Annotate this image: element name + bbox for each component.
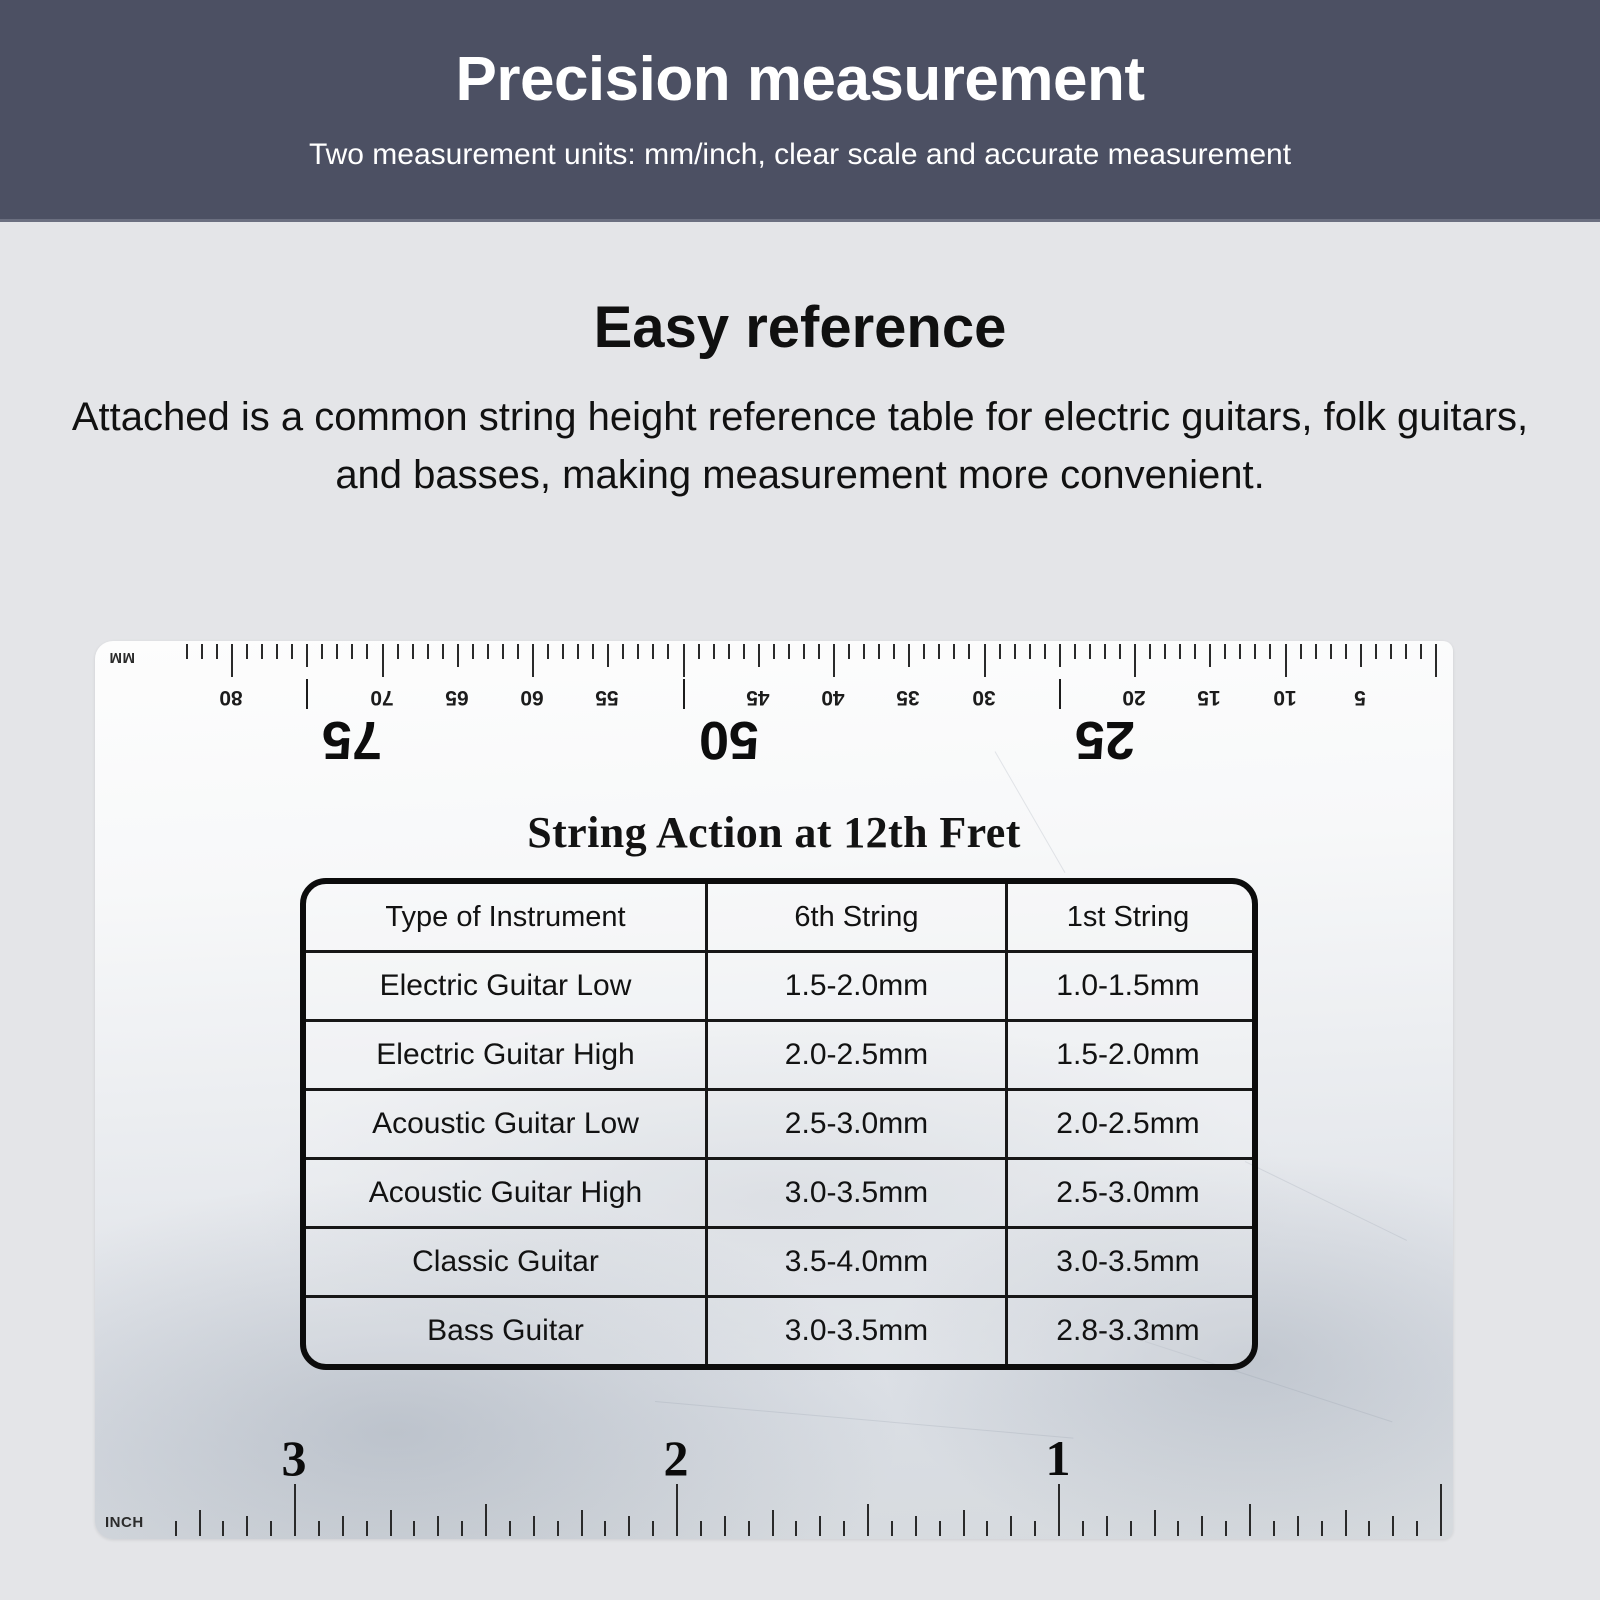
inch-tick [819, 1516, 821, 1536]
inch-tick [1440, 1484, 1442, 1536]
mm-tick [427, 644, 429, 659]
mm-tick [216, 644, 218, 659]
mm-tick [382, 644, 384, 677]
inch-tick [867, 1504, 869, 1536]
cell-first-string: 2.0-2.5mm [1008, 1091, 1248, 1157]
inch-tick [509, 1521, 511, 1536]
column-header-instrument: Type of Instrument [306, 884, 708, 950]
table-row: Electric Guitar Low1.5-2.0mm1.0-1.5mm [306, 953, 1252, 1022]
mm-tick [577, 644, 579, 659]
mm-tick [1164, 644, 1166, 659]
inch-tick [939, 1521, 941, 1536]
mm-tick [803, 644, 805, 659]
inch-tick [270, 1521, 272, 1536]
cell-first-string: 1.5-2.0mm [1008, 1022, 1248, 1088]
mm-tick [1089, 644, 1091, 659]
inch-tick [1034, 1521, 1036, 1536]
mm-major-tick [306, 679, 308, 709]
mm-tick [713, 644, 715, 659]
mm-tick-label: 10 [1273, 685, 1296, 709]
column-header-sixth-string: 6th String [708, 884, 1008, 950]
inch-tick [342, 1516, 344, 1536]
mm-tick [1209, 644, 1211, 667]
inch-tick [1058, 1484, 1060, 1536]
inch-tick [748, 1521, 750, 1536]
mm-tick [1420, 644, 1422, 659]
inch-tick-label: 3 [282, 1433, 307, 1483]
cell-first-string: 2.5-3.0mm [1008, 1160, 1248, 1226]
mm-tick [984, 644, 986, 677]
table-row: Electric Guitar High2.0-2.5mm1.5-2.0mm [306, 1022, 1252, 1091]
inch-tick [222, 1521, 224, 1536]
mm-tick [1269, 644, 1271, 659]
mm-tick [261, 644, 263, 659]
inch-tick [1416, 1521, 1418, 1536]
mm-tick [607, 644, 609, 667]
inch-tick [1392, 1516, 1394, 1536]
inch-tick [533, 1516, 535, 1536]
mm-tick [562, 644, 564, 659]
mm-major-tick [1059, 679, 1061, 709]
inch-tick [843, 1521, 845, 1536]
cell-instrument: Classic Guitar [306, 1229, 708, 1295]
inch-tick [1273, 1521, 1275, 1536]
inch-tick [772, 1510, 774, 1536]
mm-tick [652, 644, 654, 659]
mm-tick [1119, 644, 1121, 659]
mm-tick [321, 644, 323, 659]
mm-tick [1194, 644, 1196, 659]
mm-major-tick [683, 679, 685, 709]
mm-tick [1360, 644, 1362, 667]
mm-tick-label: 55 [596, 685, 619, 709]
mm-tick [547, 644, 549, 659]
mm-tick [1405, 644, 1407, 659]
inch-tick [1297, 1516, 1299, 1536]
mm-tick-label: 40 [821, 685, 844, 709]
mm-tick [698, 644, 700, 659]
mm-tick [1044, 644, 1046, 659]
page-title: Precision measurement [455, 47, 1144, 112]
mm-tick [758, 644, 760, 667]
mm-tick-label: 15 [1198, 685, 1221, 709]
table-row: Acoustic Guitar Low2.5-3.0mm2.0-2.5mm [306, 1091, 1252, 1160]
mm-tick [306, 644, 308, 667]
mm-tick [1330, 644, 1332, 659]
intro-body: Attached is a common string height refer… [50, 388, 1550, 504]
inch-tick [1177, 1521, 1179, 1536]
mm-tick [923, 644, 925, 659]
inch-tick [1368, 1521, 1370, 1536]
inch-tick [915, 1516, 917, 1536]
inch-tick [724, 1516, 726, 1536]
mm-tick [637, 644, 639, 659]
mm-tick [1435, 644, 1437, 677]
mm-tick [1029, 644, 1031, 659]
table-row: Acoustic Guitar High3.0-3.5mm2.5-3.0mm [306, 1160, 1252, 1229]
mm-tick [1104, 644, 1106, 659]
table-row: Classic Guitar3.5-4.0mm3.0-3.5mm [306, 1229, 1252, 1298]
inch-tick [581, 1510, 583, 1536]
mm-tick [442, 644, 444, 659]
cell-instrument: Electric Guitar Low [306, 953, 708, 1019]
mm-tick [592, 644, 594, 659]
inch-unit-label: INCH [105, 1514, 144, 1531]
page-subtitle: Two measurement units: mm/inch, clear sc… [309, 138, 1291, 172]
mm-tick [201, 644, 203, 659]
mm-tick [1179, 644, 1181, 659]
inch-tick [986, 1521, 988, 1536]
inch-tick [485, 1504, 487, 1536]
mm-tick-label: 60 [520, 685, 543, 709]
inch-tick [1154, 1510, 1156, 1536]
mm-tick [231, 644, 233, 677]
mm-tick [336, 644, 338, 659]
cell-first-string: 3.0-3.5mm [1008, 1229, 1248, 1295]
mm-tick-label: 5 [1354, 685, 1366, 709]
mm-tick [788, 644, 790, 659]
inch-tick-label: 2 [664, 1433, 689, 1483]
mm-tick [487, 644, 489, 659]
mm-tick [968, 644, 970, 659]
mm-tick [863, 644, 865, 659]
inch-tick [1345, 1510, 1347, 1536]
mm-tick [878, 644, 880, 659]
cell-sixth-string: 3.0-3.5mm [708, 1160, 1008, 1226]
mm-tick [833, 644, 835, 677]
inch-tick [1106, 1516, 1108, 1536]
mm-ruler-scale: MM 8070656055454035302015105755025 [95, 641, 1453, 761]
surface-scratch [1245, 1161, 1407, 1241]
string-action-table: Type of Instrument 6th String 1st String… [300, 878, 1258, 1370]
inch-tick [246, 1516, 248, 1536]
cell-instrument: Acoustic Guitar Low [306, 1091, 708, 1157]
inch-tick [963, 1510, 965, 1536]
mm-tick [667, 644, 669, 659]
mm-tick [1315, 644, 1317, 659]
mm-major-label: 75 [322, 713, 382, 767]
mm-tick-label: 45 [746, 685, 769, 709]
inch-tick [676, 1484, 678, 1536]
mm-tick [683, 644, 685, 677]
mm-tick [848, 644, 850, 659]
inch-tick [628, 1516, 630, 1536]
mm-tick-label: 80 [219, 685, 242, 709]
mm-tick-label: 35 [897, 685, 920, 709]
cell-sixth-string: 2.5-3.0mm [708, 1091, 1008, 1157]
mm-tick [893, 644, 895, 659]
mm-tick [728, 644, 730, 659]
inch-tick [175, 1521, 177, 1536]
inch-tick [294, 1484, 296, 1536]
mm-tick [366, 644, 368, 659]
mm-tick [412, 644, 414, 659]
mm-tick [743, 644, 745, 659]
inch-tick [413, 1521, 415, 1536]
mm-tick [1014, 644, 1016, 659]
inch-tick [1130, 1521, 1132, 1536]
inch-tick [366, 1521, 368, 1536]
inch-tick [437, 1516, 439, 1536]
inch-tick [891, 1521, 893, 1536]
mm-tick [1285, 644, 1287, 677]
mm-tick [186, 644, 188, 659]
inch-tick [1249, 1504, 1251, 1536]
mm-tick [1224, 644, 1226, 659]
mm-tick-label: 70 [370, 685, 393, 709]
inch-tick [1010, 1516, 1012, 1536]
inch-tick [652, 1521, 654, 1536]
mm-tick [938, 644, 940, 659]
mm-tick-label: 30 [972, 685, 995, 709]
cell-sixth-string: 3.5-4.0mm [708, 1229, 1008, 1295]
mm-unit-label: MM [109, 649, 135, 666]
mm-tick [1345, 644, 1347, 659]
table-title: String Action at 12th Fret [95, 807, 1453, 858]
inch-tick [318, 1521, 320, 1536]
mm-tick [457, 644, 459, 667]
inch-tick [1201, 1516, 1203, 1536]
mm-tick [1375, 644, 1377, 659]
cell-sixth-string: 2.0-2.5mm [708, 1022, 1008, 1088]
mm-tick [908, 644, 910, 667]
mm-tick [351, 644, 353, 659]
mm-tick [1254, 644, 1256, 659]
mm-tick [1390, 644, 1392, 659]
table-body: Electric Guitar Low1.5-2.0mm1.0-1.5mmEle… [306, 953, 1252, 1364]
intro-section: Easy reference Attached is a common stri… [0, 240, 1600, 504]
mm-major-label: 25 [1075, 713, 1135, 767]
mm-tick [622, 644, 624, 659]
mm-tick-label: 20 [1122, 685, 1145, 709]
inch-tick-label: 1 [1046, 1433, 1071, 1483]
mm-tick [1239, 644, 1241, 659]
inch-tick [390, 1510, 392, 1536]
mm-tick-label: 65 [445, 685, 468, 709]
mm-tick [999, 644, 1001, 659]
mm-tick [1059, 644, 1061, 667]
mm-tick [246, 644, 248, 659]
inch-tick [199, 1510, 201, 1536]
mm-tick [1134, 644, 1136, 677]
inch-tick [1225, 1521, 1227, 1536]
inch-tick [700, 1521, 702, 1536]
intro-title: Easy reference [0, 296, 1600, 360]
mm-tick [397, 644, 399, 659]
mm-tick [1074, 644, 1076, 659]
mm-tick [818, 644, 820, 659]
mm-tick [472, 644, 474, 659]
table-header-row: Type of Instrument 6th String 1st String [306, 884, 1252, 953]
inch-tick [1082, 1521, 1084, 1536]
inch-tick [461, 1521, 463, 1536]
ruler-card-photo: MM 8070656055454035302015105755025 Strin… [95, 641, 1453, 1539]
inch-tick [604, 1521, 606, 1536]
cell-sixth-string: 1.5-2.0mm [708, 953, 1008, 1019]
column-header-first-string: 1st String [1008, 884, 1248, 950]
mm-tick [1300, 644, 1302, 659]
mm-tick [773, 644, 775, 659]
mm-tick [502, 644, 504, 659]
mm-tick [953, 644, 955, 659]
mm-tick [276, 644, 278, 659]
mm-tick [532, 644, 534, 677]
inch-tick [795, 1521, 797, 1536]
inch-ruler-scale: INCH 321 [95, 1349, 1453, 1539]
mm-major-label: 50 [698, 713, 758, 767]
inch-tick [557, 1521, 559, 1536]
cell-instrument: Acoustic Guitar High [306, 1160, 708, 1226]
inch-tick [1321, 1521, 1323, 1536]
header-banner: Precision measurement Two measurement un… [0, 0, 1600, 222]
mm-tick [517, 644, 519, 659]
cell-instrument: Electric Guitar High [306, 1022, 708, 1088]
cell-first-string: 1.0-1.5mm [1008, 953, 1248, 1019]
mm-tick [291, 644, 293, 659]
mm-tick [1149, 644, 1151, 659]
